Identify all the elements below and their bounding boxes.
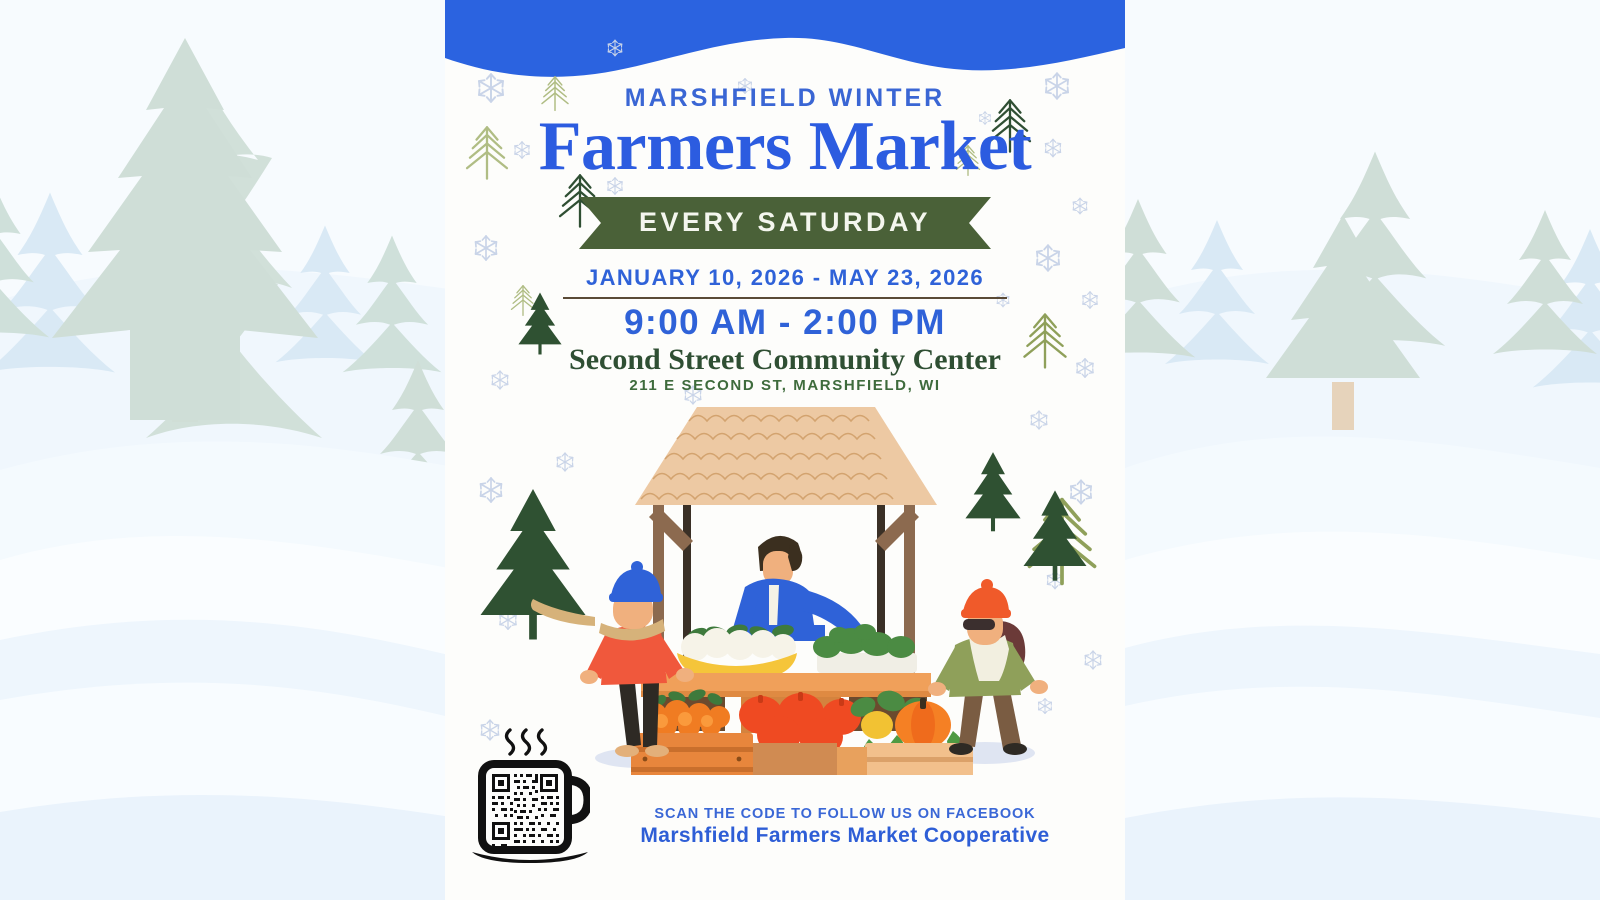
- every-saturday-ribbon: EVERY SATURDAY: [579, 197, 991, 249]
- steam-icon: [507, 730, 546, 754]
- event-date-range: JANUARY 10, 2026 - MAY 23, 2026: [445, 265, 1125, 291]
- event-hours: 9:00 AM - 2:00 PM: [445, 303, 1125, 343]
- poster-title: Farmers Market: [445, 112, 1125, 182]
- event-address: 211 E SECOND ST, MARSHFIELD, WI: [445, 377, 1125, 394]
- event-poster: MARSHFIELD WINTER Farmers Market EVERY S…: [445, 0, 1125, 900]
- qr-code-pattern: [492, 774, 559, 847]
- divider-rule: [563, 297, 1007, 299]
- squash: [861, 711, 893, 739]
- qr-code-coffee-mug-icon[interactable]: [470, 728, 590, 863]
- scarf-tail: [531, 599, 595, 626]
- ribbon-label: EVERY SATURDAY: [579, 197, 991, 249]
- event-venue: Second Street Community Center: [445, 343, 1125, 377]
- footer-scan-instruction: SCAN THE CODE TO FOLLOW US ON FACEBOOK: [595, 806, 1095, 822]
- market-stall-illustration: [445, 395, 1125, 775]
- stall-roof: [635, 407, 937, 505]
- footer-organization-name: Marshfield Farmers Market Cooperative: [595, 824, 1095, 848]
